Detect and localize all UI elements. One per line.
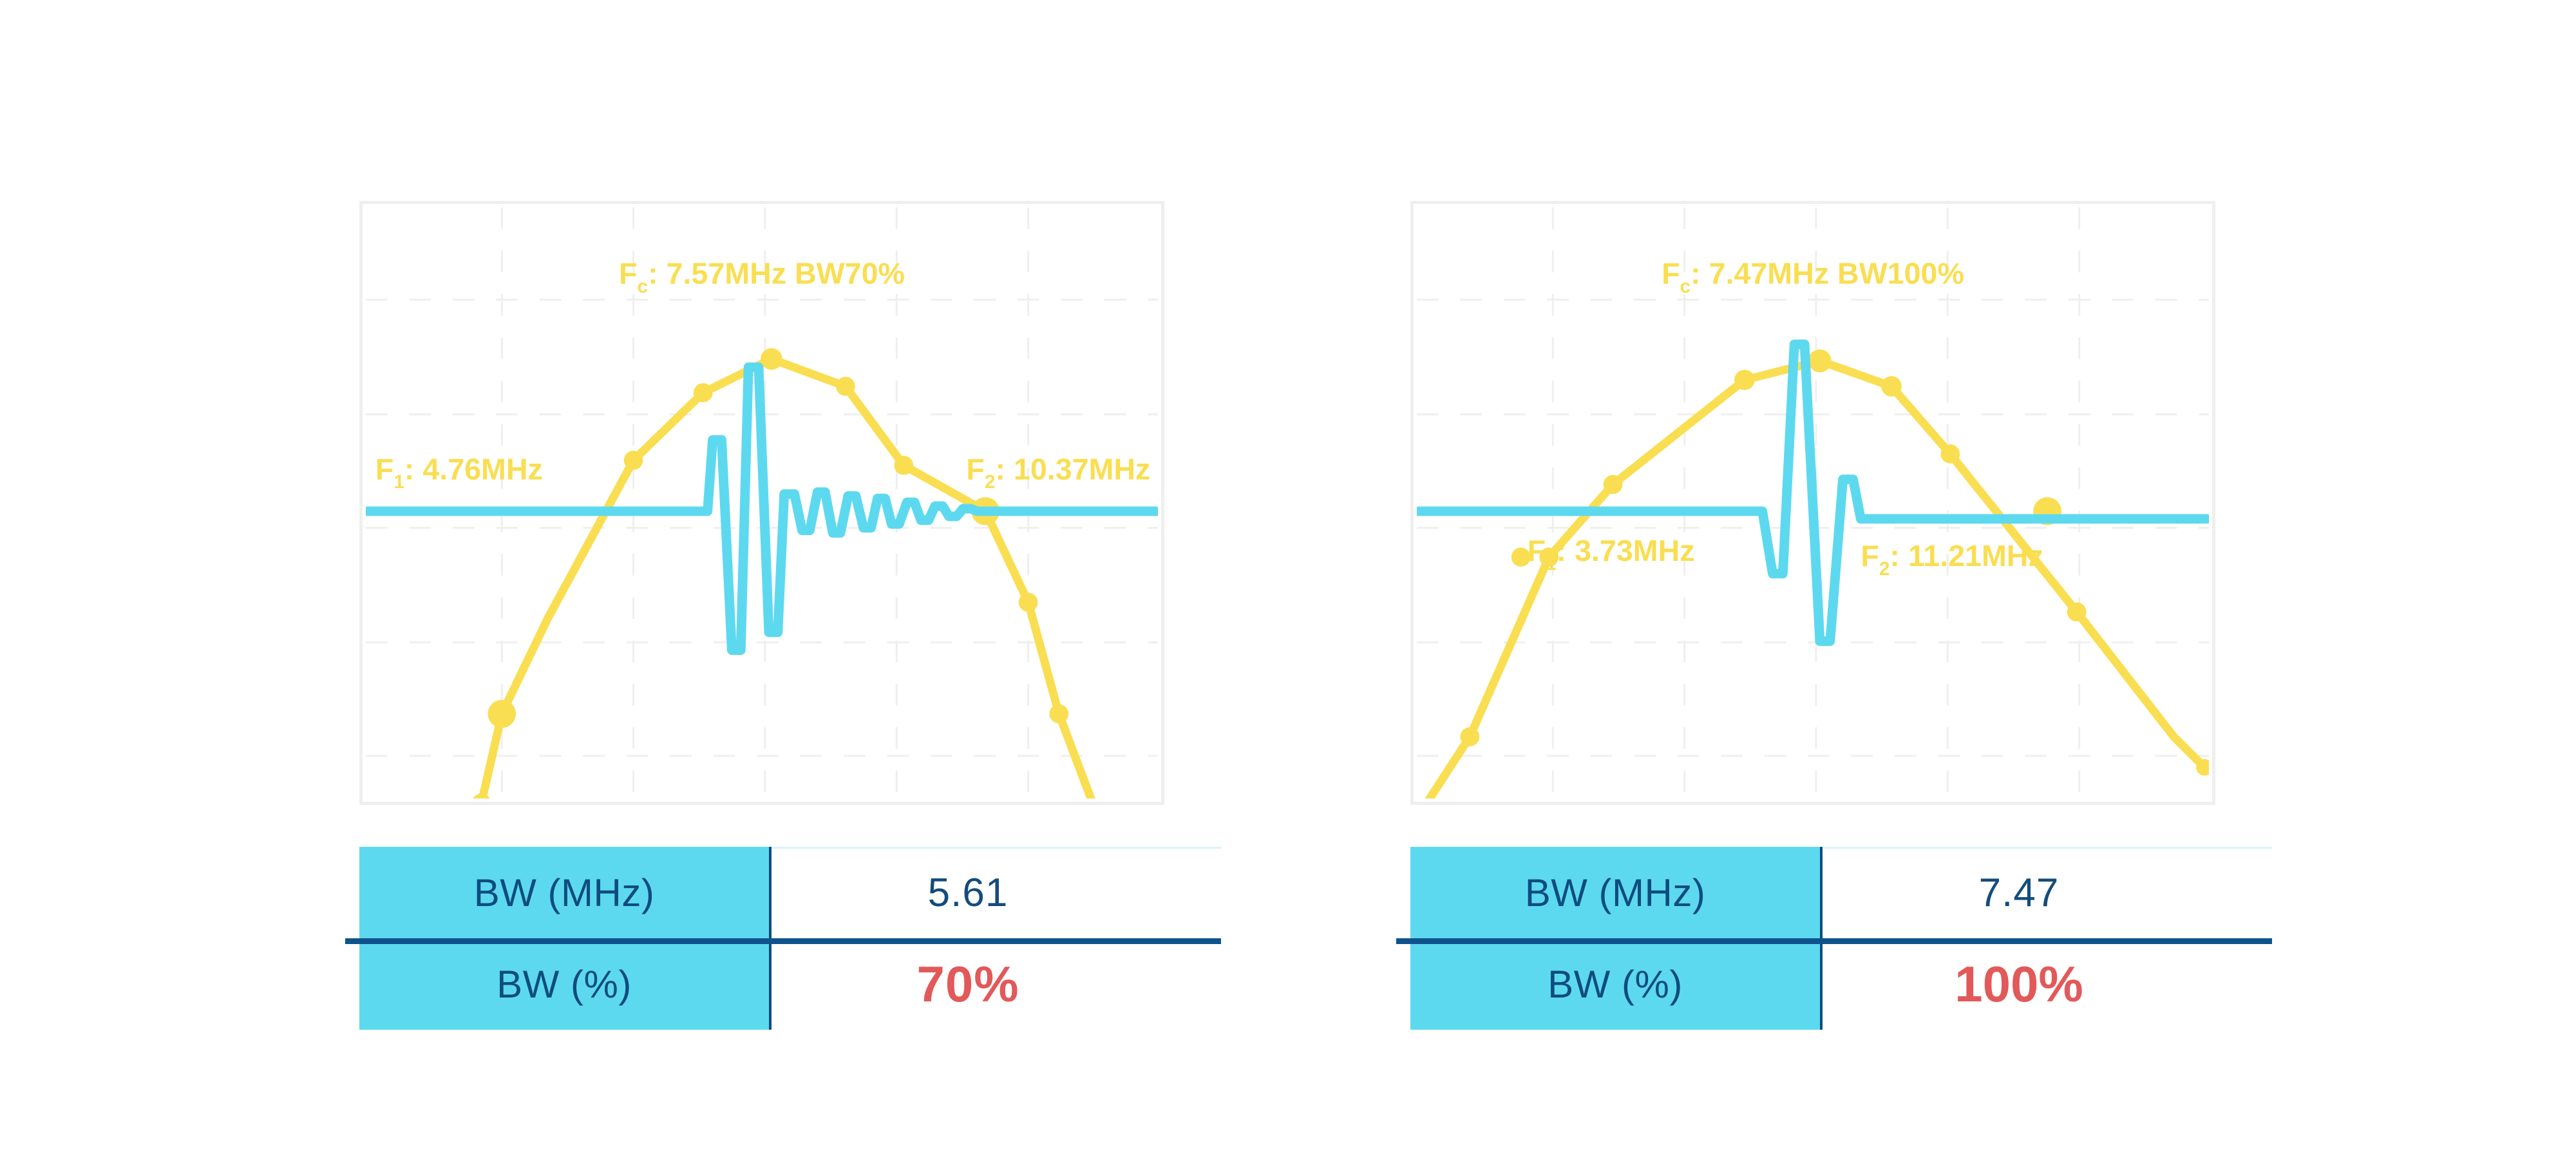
bandwidth-panel-right: Fc: 7.47MHz BW100% F1: 3.73MHz F2: 11.21…	[1410, 201, 2215, 1030]
table-divider-rule	[1396, 938, 2272, 944]
annotation-center-left: Fc: 7.57MHz BW70%	[619, 257, 905, 298]
row-label-bw-mhz: BW (MHz)	[1410, 847, 1823, 938]
table-row: BW (%) 100%	[1410, 938, 2215, 1030]
row-value-text: 100%	[1955, 955, 2083, 1014]
bandwidth-table-left: BW (MHz) 5.61 BW (%) 70%	[359, 847, 1164, 1030]
annotation-f1-right: F1: 3.73MHz	[1528, 534, 1695, 574]
row-top-hairline	[1823, 847, 2272, 849]
row-value-text: 5.61	[928, 870, 1009, 916]
row-label-bw-mhz: BW (MHz)	[359, 847, 772, 938]
row-value-bw-mhz: 7.47	[1823, 847, 2215, 938]
row-value-text: 7.47	[1979, 870, 2060, 916]
row-value-bw-pct: 70%	[772, 938, 1164, 1030]
table-row: BW (MHz) 7.47	[1410, 847, 2215, 938]
pulse-waveform-right	[1419, 345, 2207, 641]
row-label-text: BW (%)	[497, 962, 632, 1007]
row-label-bw-pct: BW (%)	[359, 938, 772, 1030]
chart-right-svg: Fc: 7.47MHz BW100% F1: 3.73MHz F2: 11.21…	[1414, 204, 2212, 802]
f2-label-right: F2: 11.21MHz	[1861, 539, 2043, 580]
chart-left-svg: Fc: 7.57MHz BW70% F1: 4.76MHz F2: 10.37M…	[363, 204, 1161, 802]
annotation-f2-right: F2: 11.21MHz	[1861, 539, 2043, 580]
row-label-text: BW (MHz)	[474, 871, 655, 915]
annotation-f1-left: F1: 4.76MHz	[375, 452, 543, 493]
row-label-bw-pct: BW (%)	[1410, 938, 1823, 1030]
table-divider-rule	[345, 938, 1221, 944]
fc-label-prefix-left: Fc: 7.57MHz BW70%	[619, 257, 905, 298]
f1-label-left: F1: 4.76MHz	[375, 452, 543, 493]
fc-label-right: Fc: 7.47MHz BW100%	[1662, 257, 1964, 298]
table-row: BW (MHz) 5.61	[359, 847, 1164, 938]
table-row: BW (%) 70%	[359, 938, 1164, 1030]
annotation-center-right: Fc: 7.47MHz BW100%	[1662, 257, 1964, 298]
row-label-text: BW (MHz)	[1525, 871, 1706, 915]
row-value-text: 70%	[916, 955, 1019, 1014]
row-label-text: BW (%)	[1548, 962, 1683, 1007]
pulse-waveform-left	[368, 367, 1156, 650]
row-value-bw-pct: 100%	[1823, 938, 2215, 1030]
row-top-hairline	[772, 847, 1221, 849]
screenshot-root: Fc: 7.57MHz BW70% F1: 4.76MHz F2: 10.37M…	[0, 0, 2576, 1154]
f1-label-right: F1: 3.73MHz	[1528, 534, 1695, 574]
chart-panel-right: Fc: 7.47MHz BW100% F1: 3.73MHz F2: 11.21…	[1410, 201, 2215, 805]
bandwidth-table-right: BW (MHz) 7.47 BW (%) 100%	[1410, 847, 2215, 1030]
chart-panel-left: Fc: 7.57MHz BW70% F1: 4.76MHz F2: 10.37M…	[359, 201, 1164, 805]
annotation-f2-left: F2: 10.37MHz	[966, 452, 1150, 493]
row-value-bw-mhz: 5.61	[772, 847, 1164, 938]
bandwidth-panel-left: Fc: 7.57MHz BW70% F1: 4.76MHz F2: 10.37M…	[359, 201, 1164, 1030]
f2-label-left: F2: 10.37MHz	[966, 452, 1150, 493]
